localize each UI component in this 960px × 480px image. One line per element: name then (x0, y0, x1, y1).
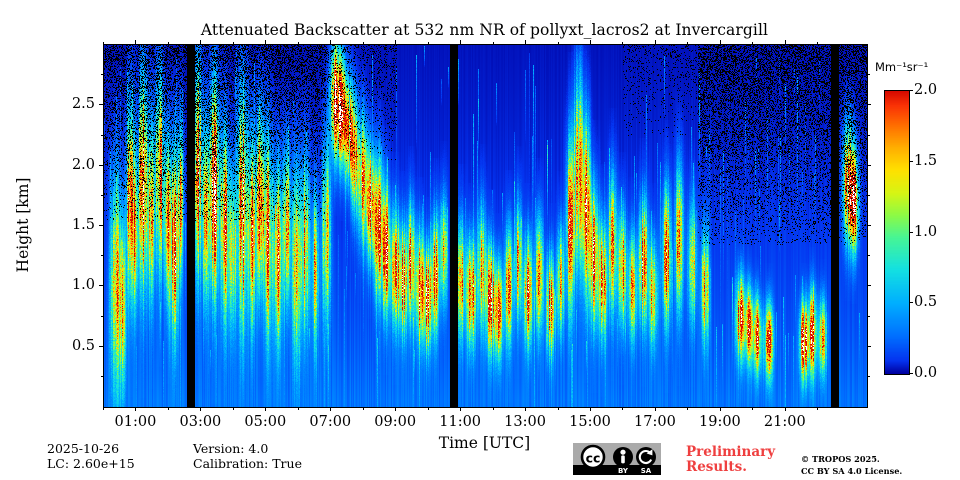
x-axis-tick-label: 21:00 (764, 414, 806, 430)
y-axis-tick (99, 225, 103, 226)
x-axis-minor-tick-top (168, 42, 169, 45)
x-axis-minor-tick-top (687, 42, 688, 45)
x-axis-tick-top (265, 40, 266, 44)
x-axis-tick-top (460, 40, 461, 44)
cc-by-text: BY (618, 467, 629, 475)
y-axis-minor-tick (101, 376, 104, 377)
preliminary-line-2: Results. (686, 460, 775, 475)
x-axis-tick (590, 407, 591, 411)
x-axis-tick (330, 407, 331, 411)
y-axis-tick-right (867, 225, 871, 226)
x-axis-minor-tick (752, 407, 753, 410)
colorbar (884, 90, 910, 375)
y-axis-minor-tick (101, 255, 104, 256)
cc-glyph-text: cc (586, 451, 601, 466)
x-axis-minor-tick-top (428, 42, 429, 45)
copyright-line-1: © TROPOS 2025. (801, 454, 902, 466)
x-axis-tick-label: 01:00 (115, 414, 157, 430)
x-axis-tick-label: 09:00 (374, 414, 416, 430)
y-axis-tick (99, 285, 103, 286)
x-axis-tick (785, 407, 786, 411)
x-axis-tick-top (135, 40, 136, 44)
colorbar-tick (909, 232, 913, 233)
x-axis-tick-top (720, 40, 721, 44)
y-axis-tick (99, 165, 103, 166)
x-axis-minor-tick-top (752, 42, 753, 45)
colorbar-tick (909, 302, 913, 303)
colorbar-unit-label: Mm⁻¹sr⁻¹ (875, 60, 928, 74)
y-axis-tick-label: 0.5 (59, 338, 95, 354)
x-axis-tick-label: 15:00 (569, 414, 611, 430)
y-axis-tick-right (867, 165, 871, 166)
x-axis-tick-label: 05:00 (244, 414, 286, 430)
x-axis-minor-tick (493, 407, 494, 410)
heatmap-plot-area (103, 44, 868, 408)
colorbar-gradient (885, 91, 909, 374)
colorbar-tick-label: 1.0 (914, 224, 937, 240)
copyright-line-2: CC BY SA 4.0 License. (801, 466, 902, 478)
colorbar-tick-label: 0.5 (914, 294, 937, 310)
y-axis-minor-tick (101, 195, 104, 196)
y-axis-minor-tick-right (867, 74, 870, 75)
colorbar-tick-label: 1.5 (914, 153, 937, 169)
x-axis-tick (135, 407, 136, 411)
cc-sa-text: SA (641, 467, 652, 475)
x-axis-minor-tick (233, 407, 234, 410)
y-axis-minor-tick-right (867, 316, 870, 317)
x-axis-tick-top (655, 40, 656, 44)
x-axis-minor-tick-top (103, 42, 104, 45)
x-axis-minor-tick-top (622, 42, 623, 45)
x-axis-tick-top (525, 40, 526, 44)
y-axis-tick-label: 2.0 (59, 157, 95, 173)
x-axis-tick (395, 407, 396, 411)
y-axis-tick-label: 1.0 (59, 277, 95, 293)
x-axis-tick-label: 07:00 (309, 414, 351, 430)
x-axis-tick-label: 17:00 (634, 414, 676, 430)
x-axis-tick (720, 407, 721, 411)
x-axis-minor-tick-top (233, 42, 234, 45)
colorbar-tick-label: 0.0 (914, 365, 937, 381)
creative-commons-badge: cc BY SA (573, 443, 661, 475)
y-axis-minor-tick-right (867, 195, 870, 196)
colorbar-tick (909, 90, 913, 91)
x-axis-tick (460, 407, 461, 411)
x-axis-minor-tick (817, 407, 818, 410)
x-axis-tick (265, 407, 266, 411)
y-axis-tick-label: 2.5 (59, 96, 95, 112)
footer-version: Version: 4.0 (193, 441, 268, 456)
y-axis-minor-tick (101, 316, 104, 317)
x-axis-tick-label: 11:00 (439, 414, 481, 430)
backscatter-heatmap (104, 45, 867, 407)
y-axis-minor-tick-right (867, 376, 870, 377)
y-axis-tick-right (867, 104, 871, 105)
x-axis-minor-tick (168, 407, 169, 410)
x-axis-minor-tick (428, 407, 429, 410)
x-axis-minor-tick (622, 407, 623, 410)
x-axis-minor-tick (558, 407, 559, 410)
copyright-note: © TROPOS 2025. CC BY SA 4.0 License. (801, 454, 902, 478)
x-axis-minor-tick (687, 407, 688, 410)
preliminary-line-1: Preliminary (686, 445, 775, 460)
footer-lidar-constant: LC: 2.60e+15 (47, 456, 135, 471)
y-axis-tick-right (867, 346, 871, 347)
y-axis-minor-tick-right (867, 255, 870, 256)
colorbar-tick (909, 161, 913, 162)
colorbar-tick-label: 2.0 (914, 82, 937, 98)
y-axis-minor-tick-right (867, 135, 870, 136)
colorbar-tick (909, 373, 913, 374)
x-axis-tick-top (330, 40, 331, 44)
x-axis-tick-top (395, 40, 396, 44)
y-axis-tick-label: 1.5 (59, 217, 95, 233)
y-axis-minor-tick (101, 135, 104, 136)
x-axis-tick (200, 407, 201, 411)
y-axis-tick (99, 104, 103, 105)
x-axis-minor-tick-top (493, 42, 494, 45)
x-axis-minor-tick (363, 407, 364, 410)
footer-date: 2025-10-26 (47, 441, 119, 456)
x-axis-minor-tick-top (363, 42, 364, 45)
page-title: Attenuated Backscatter at 532 nm NR of p… (103, 21, 866, 39)
x-axis-tick-top (200, 40, 201, 44)
x-axis-tick-label: 13:00 (504, 414, 546, 430)
preliminary-results-note: Preliminary Results. (686, 445, 775, 475)
x-axis-minor-tick-top (298, 42, 299, 45)
x-axis-tick (655, 407, 656, 411)
x-axis-tick (525, 407, 526, 411)
y-axis-label: Height [km] (14, 178, 32, 273)
x-axis-minor-tick (298, 407, 299, 410)
x-axis-tick-top (785, 40, 786, 44)
x-axis-minor-tick-top (558, 42, 559, 45)
y-axis-tick-right (867, 285, 871, 286)
x-axis-minor-tick (103, 407, 104, 410)
x-axis-tick-label: 03:00 (179, 414, 221, 430)
x-axis-tick-top (590, 40, 591, 44)
x-axis-tick-label: 19:00 (699, 414, 741, 430)
x-axis-minor-tick-top (817, 42, 818, 45)
figure-canvas: Attenuated Backscatter at 532 nm NR of p… (0, 0, 960, 480)
footer-calibration: Calibration: True (193, 456, 302, 471)
y-axis-minor-tick (101, 74, 104, 75)
y-axis-tick (99, 346, 103, 347)
